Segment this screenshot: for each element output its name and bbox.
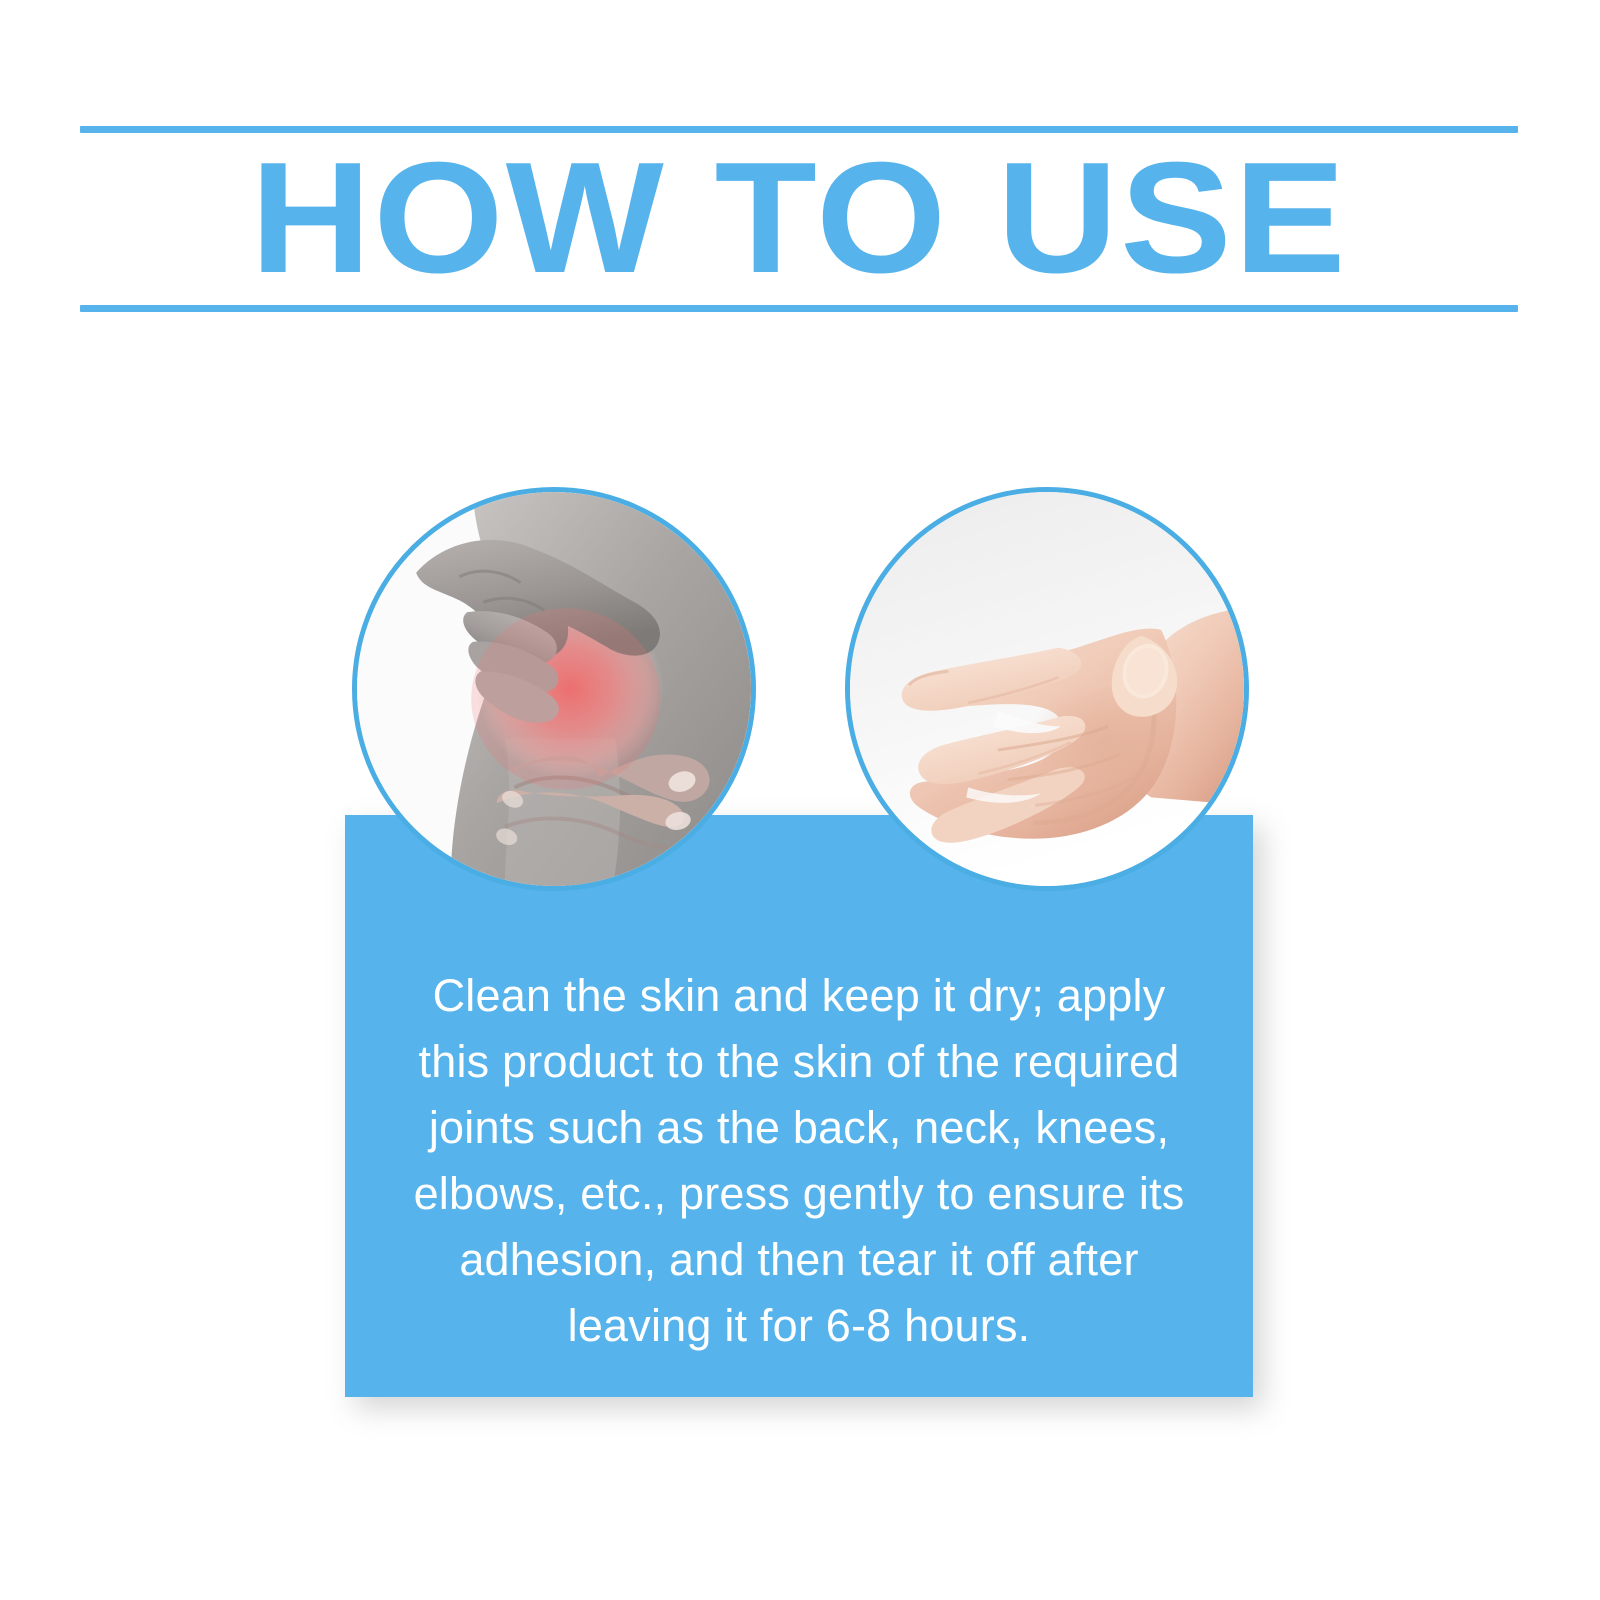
instruction-card: Clean the skin and keep it dry; apply th… — [345, 815, 1253, 1397]
open-palm-illustration — [850, 492, 1244, 886]
knee-pain-photo — [352, 487, 756, 891]
open-palm-photo — [845, 487, 1249, 891]
header-bottom-rule — [80, 305, 1518, 312]
page-title: HOW TO USE — [37, 134, 1561, 302]
knee-pain-illustration — [357, 492, 751, 886]
how-to-use-page: HOW TO USE Clean the skin and keep it dr… — [0, 0, 1600, 1600]
header-block: HOW TO USE — [80, 126, 1518, 312]
instruction-text: Clean the skin and keep it dry; apply th… — [395, 963, 1203, 1359]
